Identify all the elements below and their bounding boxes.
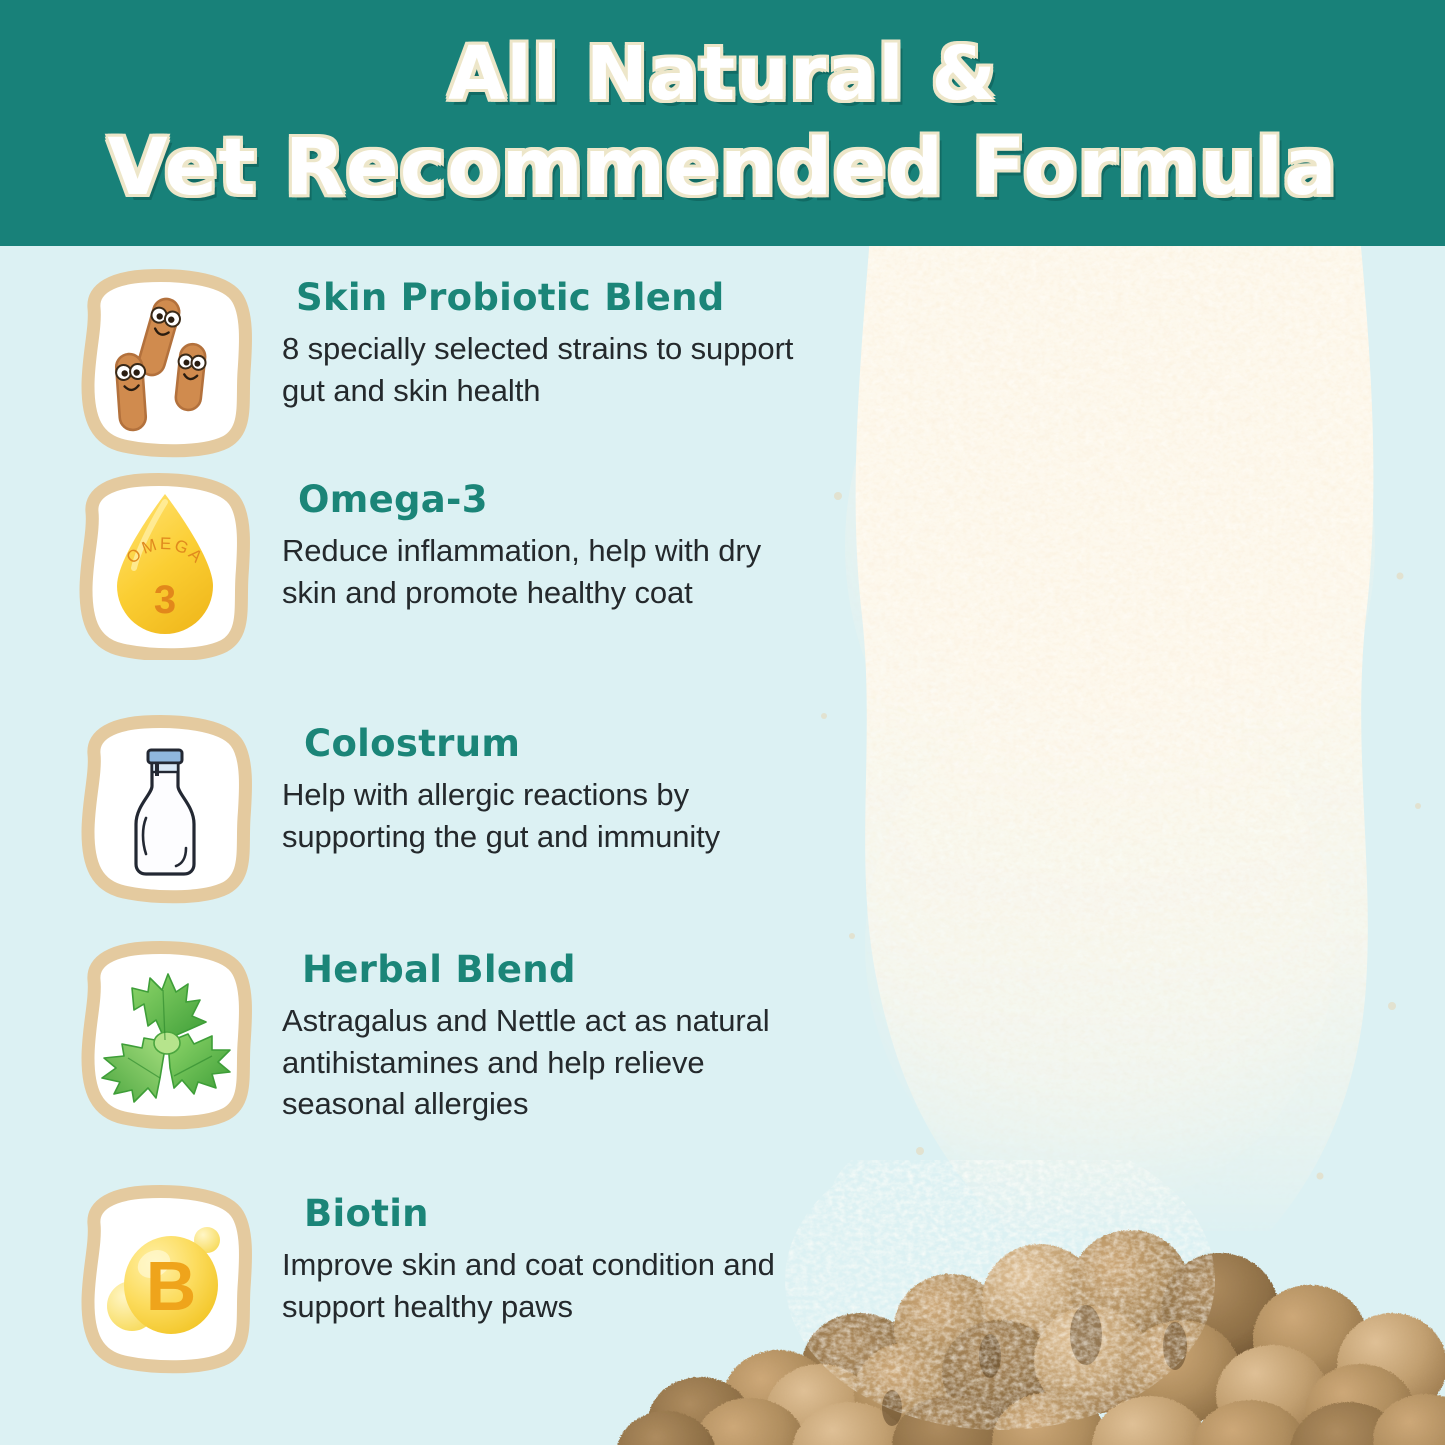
feature-item-herbal-blend: Herbal Blend Astragalus and Nettle act a… <box>70 940 802 1130</box>
banner-title-line-2: Vet Recommended Formula <box>107 129 1337 209</box>
feature-heading: Herbal Blend <box>302 950 802 991</box>
feature-description: 8 specially selected strains to support … <box>282 328 802 412</box>
nettle-leaf-icon <box>70 940 260 1130</box>
feature-description: Astragalus and Nettle act as natural ant… <box>282 1000 802 1126</box>
omega-3-oil-drop-icon: OMEGA 3 <box>70 470 260 660</box>
milk-bottle-icon <box>70 714 260 904</box>
probiotic-bacteria-icon <box>70 268 260 458</box>
falling-powder-photo <box>800 246 1445 1246</box>
feature-item-colostrum: Colostrum Help with allergic reactions b… <box>70 714 802 904</box>
feature-description: Improve skin and coat condition and supp… <box>282 1244 802 1328</box>
banner-title-line-1: All Natural & <box>448 37 997 112</box>
feature-heading: Biotin <box>304 1194 802 1235</box>
header-banner: All Natural & Vet Recommended Formula <box>0 0 1445 246</box>
biotin-capsule-icon: B <box>70 1184 260 1374</box>
feature-heading: Colostrum <box>304 724 802 765</box>
feature-description: Help with allergic reactions by supporti… <box>282 774 802 858</box>
feature-item-omega-3: OMEGA 3 Omega-3 Reduce inflammation, hel… <box>70 470 802 660</box>
feature-item-skin-probiotic-blend: Skin Probiotic Blend 8 specially selecte… <box>70 268 802 458</box>
feature-item-biotin: B Biotin Improve skin and coat condition… <box>70 1184 802 1374</box>
feature-description: Reduce inflammation, help with dry skin … <box>282 530 802 614</box>
product-infographic: All Natural & Vet Recommended Formula <box>0 0 1445 1445</box>
feature-heading: Skin Probiotic Blend <box>296 278 802 319</box>
feature-list: Skin Probiotic Blend 8 specially selecte… <box>0 246 830 1445</box>
omega-number: 3 <box>154 578 176 622</box>
biotin-letter: B <box>146 1247 197 1325</box>
feature-heading: Omega-3 <box>298 480 802 521</box>
